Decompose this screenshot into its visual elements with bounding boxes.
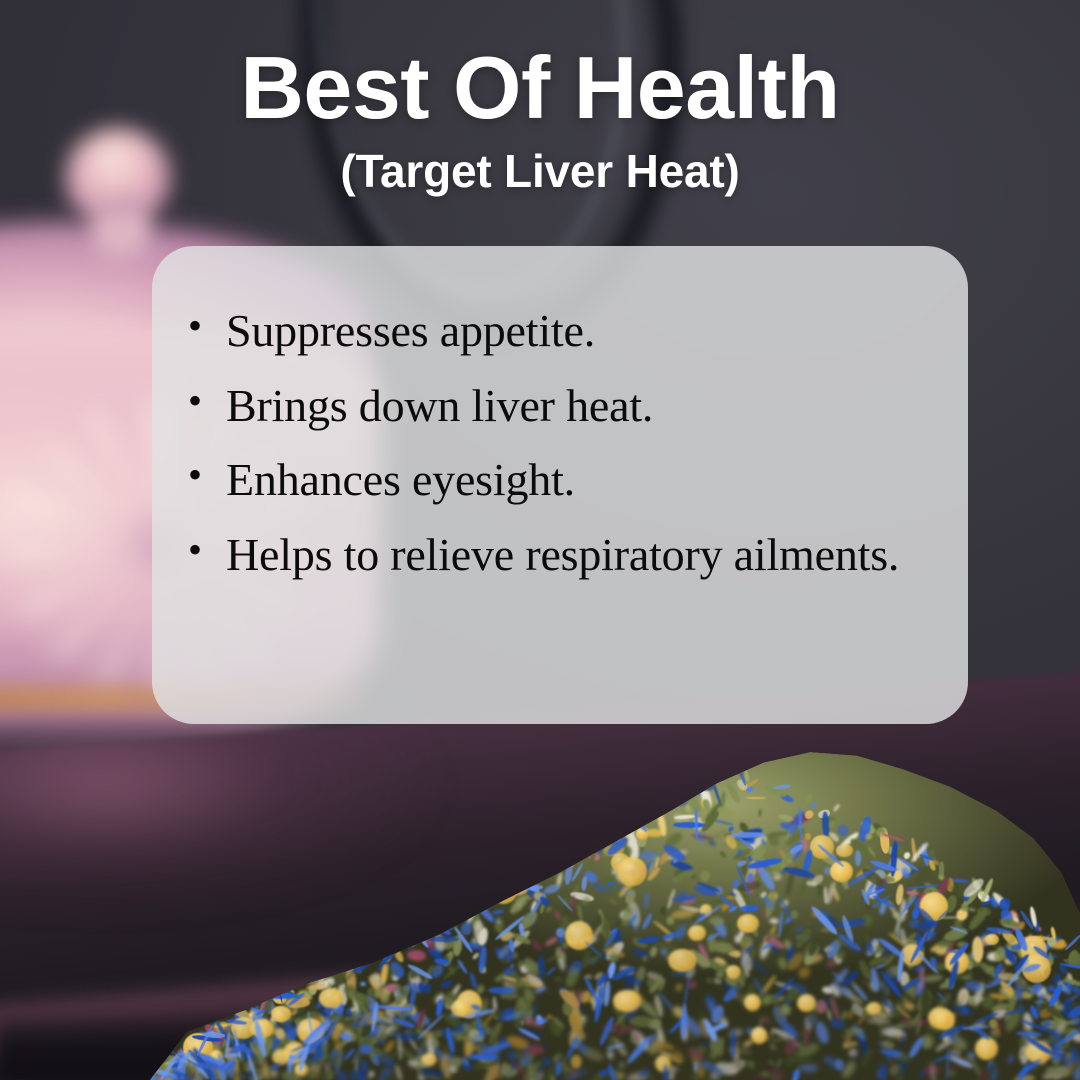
bullet-dot-icon: •: [188, 518, 226, 583]
tea-leaf-speck: [605, 786, 616, 800]
tea-leaf-speck: [533, 868, 546, 880]
tea-leaf-speck: [467, 891, 476, 901]
list-item: •Enhances eyesight.: [188, 443, 934, 518]
tea-leaf-speck: [486, 870, 504, 887]
tea-leaf-speck: [441, 873, 468, 887]
list-item: •Suppresses appetite.: [188, 294, 934, 369]
tea-leaf-speck: [694, 753, 714, 779]
tea-leaf-speck: [601, 805, 626, 814]
tea-leaf-speck: [498, 838, 511, 852]
loose-leaf-tea-mound: [150, 735, 1080, 1080]
tea-leaf-speck: [411, 926, 417, 933]
tea-leaf-speck: [452, 867, 476, 891]
tea-leaf-speck: [702, 769, 717, 781]
cornflower-petal: [421, 893, 438, 909]
cornflower-petal: [671, 769, 675, 807]
chamomile-bud: [744, 994, 761, 1011]
tea-leaf-speck: [348, 946, 371, 967]
tea-leaf-speck: [879, 1064, 887, 1080]
tea-leaf-speck: [817, 888, 821, 896]
tea-leaf-speck: [388, 922, 408, 943]
cornflower-petal: [501, 873, 510, 896]
tea-leaf-speck: [548, 838, 574, 842]
list-item-label: Brings down liver heat.: [226, 369, 934, 444]
tea-leaf-speck: [330, 947, 355, 970]
tea-leaf-speck: [482, 865, 493, 872]
tea-leaf-speck: [484, 858, 511, 883]
cornflower-petal: [583, 836, 593, 847]
tea-leaf-speck: [470, 880, 489, 899]
tea-leaf-speck: [478, 881, 488, 894]
tea-leaf-speck: [445, 870, 466, 884]
cornflower-petal: [290, 969, 302, 979]
cornflower-petal: [662, 1064, 667, 1080]
chamomile-bud: [449, 901, 464, 917]
tea-leaf-speck: [310, 964, 322, 977]
tea-leaf-speck: [303, 966, 309, 971]
tea-leaf-speck: [313, 959, 325, 972]
tea-leaf-speck: [596, 795, 613, 806]
poster-canvas: Best Of Health (Target Liver Heat) •Supp…: [0, 0, 1080, 1080]
chamomile-bud: [751, 1027, 767, 1043]
tea-leaf-speck: [295, 964, 313, 982]
tea-leaf-speck: [676, 756, 686, 783]
tea-leaf-speck: [452, 873, 466, 886]
tea-leaf-speck: [602, 829, 616, 840]
tea-leaf-speck: [409, 917, 419, 924]
tea-leaf-speck: [372, 945, 391, 957]
chamomile-bud: [975, 1037, 998, 1060]
tea-leaf-speck: [367, 918, 388, 931]
tea-leaf-speck: [521, 865, 532, 882]
tea-leaf-speck: [369, 937, 382, 951]
tea-leaf-speck: [346, 937, 360, 944]
tea-leaf-speck: [459, 877, 482, 887]
list-item: •Helps to relieve respiratory ailments.: [188, 518, 934, 593]
cornflower-petal: [439, 916, 455, 932]
cornflower-petal: [612, 811, 639, 824]
tea-leaf-speck: [427, 874, 454, 886]
tea-leaf-speck: [654, 790, 678, 813]
cornflower-petal: [625, 774, 649, 798]
tea-leaf-speck: [545, 822, 554, 827]
tea-leaf-speck: [489, 881, 511, 898]
plate-mauve-glow: [0, 700, 500, 910]
cornflower-petal: [513, 874, 523, 884]
benefits-list: •Suppresses appetite.•Brings down liver …: [188, 294, 934, 592]
tea-leaf-speck: [381, 925, 405, 944]
cornflower-petal: [373, 915, 405, 935]
tea-leaf-speck: [359, 952, 367, 960]
tea-leaf-speck: [419, 907, 431, 925]
title-block: Best Of Health (Target Liver Heat): [0, 44, 1080, 194]
tea-leaf-speck: [384, 914, 400, 927]
tea-leaf-speck: [289, 972, 314, 983]
list-item-label: Enhances eyesight.: [226, 443, 934, 518]
list-item-label: Helps to relieve respiratory ailments.: [226, 518, 934, 593]
tea-leaf-speck: [629, 798, 638, 807]
tea-leaf-speck: [666, 787, 683, 807]
tea-leaf-speck: [799, 1063, 818, 1071]
tea-leaf-speck: [594, 801, 617, 814]
tea-leaf-speck: [557, 831, 567, 838]
tea-leaf-speck: [425, 902, 437, 914]
tea-leaf-speck: [1046, 1066, 1072, 1077]
tea-leaf-speck: [390, 904, 402, 913]
tea-leaf-speck: [568, 839, 577, 844]
tea-leaf-speck: [746, 872, 754, 883]
tea-leaf-speck: [278, 979, 296, 995]
tea-leaf-speck: [589, 813, 601, 826]
tea-leaf-speck: [403, 927, 413, 934]
tea-leaf-speck: [525, 863, 543, 877]
tea-leaf-speck: [460, 890, 468, 896]
tea-leaf-speck: [573, 841, 583, 852]
tea-leaf-speck: [465, 895, 493, 908]
bullet-dot-icon: •: [188, 369, 226, 434]
tea-leaf-speck: [476, 899, 491, 905]
tea-leaf-speck: [591, 822, 601, 831]
cornflower-petal: [590, 826, 603, 843]
page-title: Best Of Health: [0, 44, 1080, 132]
cornflower-petal: [381, 907, 389, 926]
tea-leaf-speck: [363, 920, 385, 934]
chamomile-bud: [618, 857, 647, 887]
cornflower-petal: [486, 890, 500, 905]
tea-leaf-speck: [633, 811, 650, 820]
cornflower-petal: [617, 784, 643, 802]
cornflower-petal: [444, 894, 451, 913]
tea-leaf-speck: [620, 774, 640, 801]
tea-leaf-speck: [425, 895, 450, 904]
tea-leaf-speck: [343, 929, 357, 948]
cornflower-petal: [487, 864, 506, 893]
tea-leaf-speck: [448, 1057, 463, 1066]
page-subtitle: (Target Liver Heat): [0, 148, 1080, 194]
chamomile-bud: [384, 898, 412, 924]
cornflower-petal: [673, 822, 705, 828]
tea-leaf-speck: [359, 952, 364, 956]
tea-leaf-speck: [344, 946, 356, 972]
tea-leaf-speck: [486, 898, 492, 907]
tea-leaf-speck: [600, 799, 608, 818]
chamomile-bud: [797, 994, 817, 1012]
tea-leaf-speck: [457, 869, 481, 892]
tea-leaf-speck: [624, 794, 637, 805]
chamomile-bud: [660, 771, 673, 784]
cornflower-petal: [441, 914, 458, 921]
tea-leaf-speck: [577, 837, 593, 855]
tea-leaf-speck: [492, 916, 496, 922]
tea-leaf-speck: [385, 924, 400, 935]
tea-leaf-speck: [635, 796, 643, 822]
tea-leaf-speck: [428, 898, 445, 914]
tea-leaf-speck: [325, 945, 338, 966]
tea-leaf-speck: [368, 920, 384, 940]
tea-leaf-speck: [423, 931, 428, 938]
tea-leaf-speck: [531, 863, 545, 880]
cornflower-petal: [598, 804, 614, 817]
tea-leaf-speck: [580, 798, 589, 811]
bullet-dot-icon: •: [188, 294, 226, 359]
tea-leaf-speck: [525, 864, 540, 886]
cornflower-petal: [385, 905, 407, 926]
tea-leaf-speck: [400, 920, 408, 928]
teapot-knob-stem: [92, 200, 150, 262]
tea-leaf-speck: [560, 848, 569, 863]
tea-leaf-speck: [666, 783, 676, 793]
list-item-label: Suppresses appetite.: [226, 294, 934, 369]
tea-leaf-speck: [360, 982, 367, 987]
chamomile-bud: [613, 990, 640, 1013]
tea-leaf-speck: [554, 977, 563, 982]
tea-leaf-speck: [675, 794, 688, 805]
tea-leaf-speck: [647, 1074, 655, 1080]
tea-leaf-speck: [896, 1002, 903, 1010]
cornflower-petal: [563, 822, 572, 852]
tea-leaf-speck: [369, 936, 386, 950]
list-item: •Brings down liver heat.: [188, 369, 934, 444]
tea-leaf-speck: [547, 989, 553, 995]
tea-leaf-speck: [556, 815, 568, 838]
tea-leaf-speck: [648, 784, 656, 791]
tea-leaf-speck: [582, 800, 596, 817]
cornflower-petal: [427, 936, 459, 942]
tea-leaf-speck: [665, 766, 675, 791]
tea-leaf-speck: [433, 892, 445, 903]
tea-leaf-speck: [526, 857, 547, 871]
tea-leaf-speck: [565, 817, 577, 830]
chamomile-bud: [688, 925, 706, 942]
chamomile-bud: [836, 844, 852, 857]
bullet-dot-icon: •: [188, 443, 226, 508]
benefits-card: •Suppresses appetite.•Brings down liver …: [152, 246, 968, 724]
tea-leaf-speck: [313, 960, 324, 970]
cornflower-petal: [279, 981, 290, 986]
chamomile-bud: [489, 874, 519, 904]
tea-leaf-speck: [481, 854, 494, 868]
tea-leaf-speck: [431, 908, 439, 917]
tea-leaf-speck: [520, 832, 527, 839]
tea-leaf-speck: [313, 946, 330, 967]
tea-leaf-speck: [576, 831, 590, 845]
tea-leaf-speck: [549, 848, 554, 868]
tea-leaf-speck: [363, 923, 381, 933]
tea-leaf-speck: [746, 797, 766, 800]
tea-leaf-speck: [527, 823, 549, 850]
tea-leaf-speck: [617, 791, 623, 800]
tea-leaf-speck: [311, 963, 320, 983]
tea-leaf-speck: [522, 871, 530, 878]
tea-leaf-speck: [553, 842, 559, 853]
cornflower-petal: [506, 830, 525, 864]
chamomile-bud: [319, 988, 342, 1009]
cornflower-petal: [460, 858, 484, 874]
cornflower-petal: [570, 808, 591, 828]
tea-leaf-speck: [378, 944, 387, 954]
